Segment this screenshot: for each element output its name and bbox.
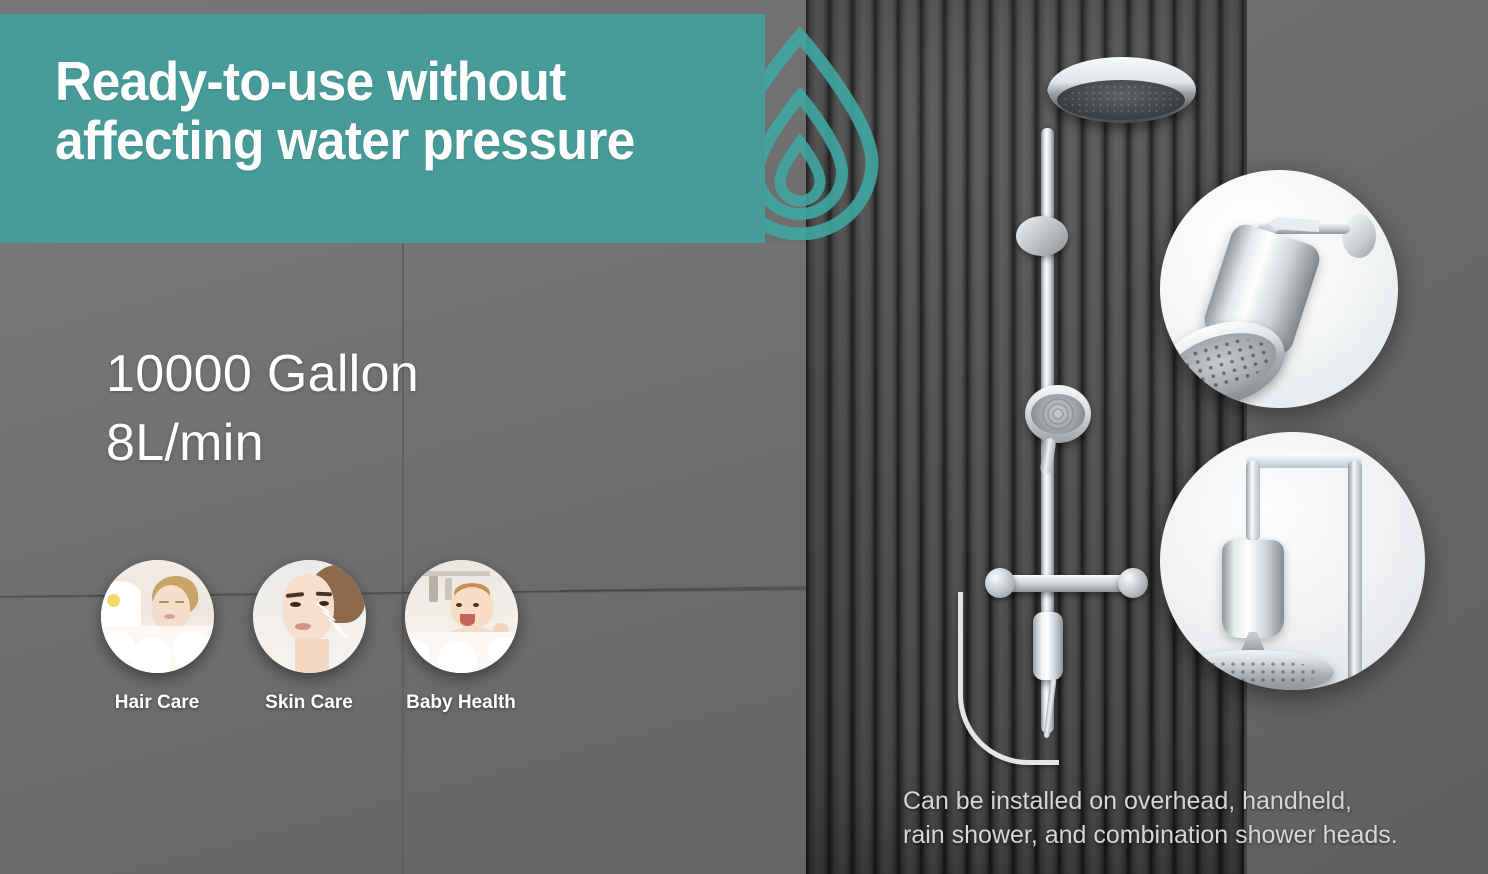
benefit-item-baby-health: Baby Health — [400, 560, 522, 714]
valve-knob-left — [985, 568, 1015, 598]
stats-block: 10000 Gallon 8L/min — [106, 340, 419, 477]
rain-shower-nozzles — [1062, 84, 1180, 116]
shower-filter-cartridge — [1033, 612, 1063, 680]
headline-line-2: affecting water pressure — [55, 111, 713, 170]
flow-rate-value: 8L/min — [106, 409, 419, 478]
product-marketing-banner: Ready-to-use without affecting water pre… — [0, 0, 1488, 874]
benefit-item-skin-care: Skin Care — [248, 560, 370, 714]
wall-corner-seam — [1244, 0, 1247, 874]
benefit-item-hair-care: Hair Care — [96, 560, 218, 714]
valve-knob-right — [1118, 568, 1148, 598]
benefits-row: Hair Care Skin Care — [96, 560, 566, 730]
headline-line-1: Ready-to-use without — [55, 50, 566, 112]
caption-line-1: Can be installed on overhead, handheld, — [903, 787, 1352, 815]
benefit-label: Skin Care — [248, 692, 370, 714]
wall-mount-bracket — [1016, 216, 1068, 256]
hair-care-photo — [101, 560, 214, 673]
handheld-shower-nozzle-rings — [1034, 397, 1082, 431]
baby-health-photo — [405, 560, 518, 673]
rain-shower-filter-inset — [1160, 432, 1425, 690]
tile-seam-vertical — [402, 243, 404, 874]
caption-line-2: rain shower, and combination shower head… — [903, 818, 1463, 852]
benefit-label: Baby Health — [400, 692, 522, 714]
benefit-label: Hair Care — [96, 692, 218, 714]
capacity-value: 10000 Gallon — [106, 340, 419, 409]
installation-caption: Can be installed on overhead, handheld, … — [903, 784, 1463, 852]
overhead-shower-filter-inset — [1160, 170, 1398, 408]
headline-text: Ready-to-use without affecting water pre… — [55, 52, 713, 170]
skin-care-photo — [253, 560, 366, 673]
